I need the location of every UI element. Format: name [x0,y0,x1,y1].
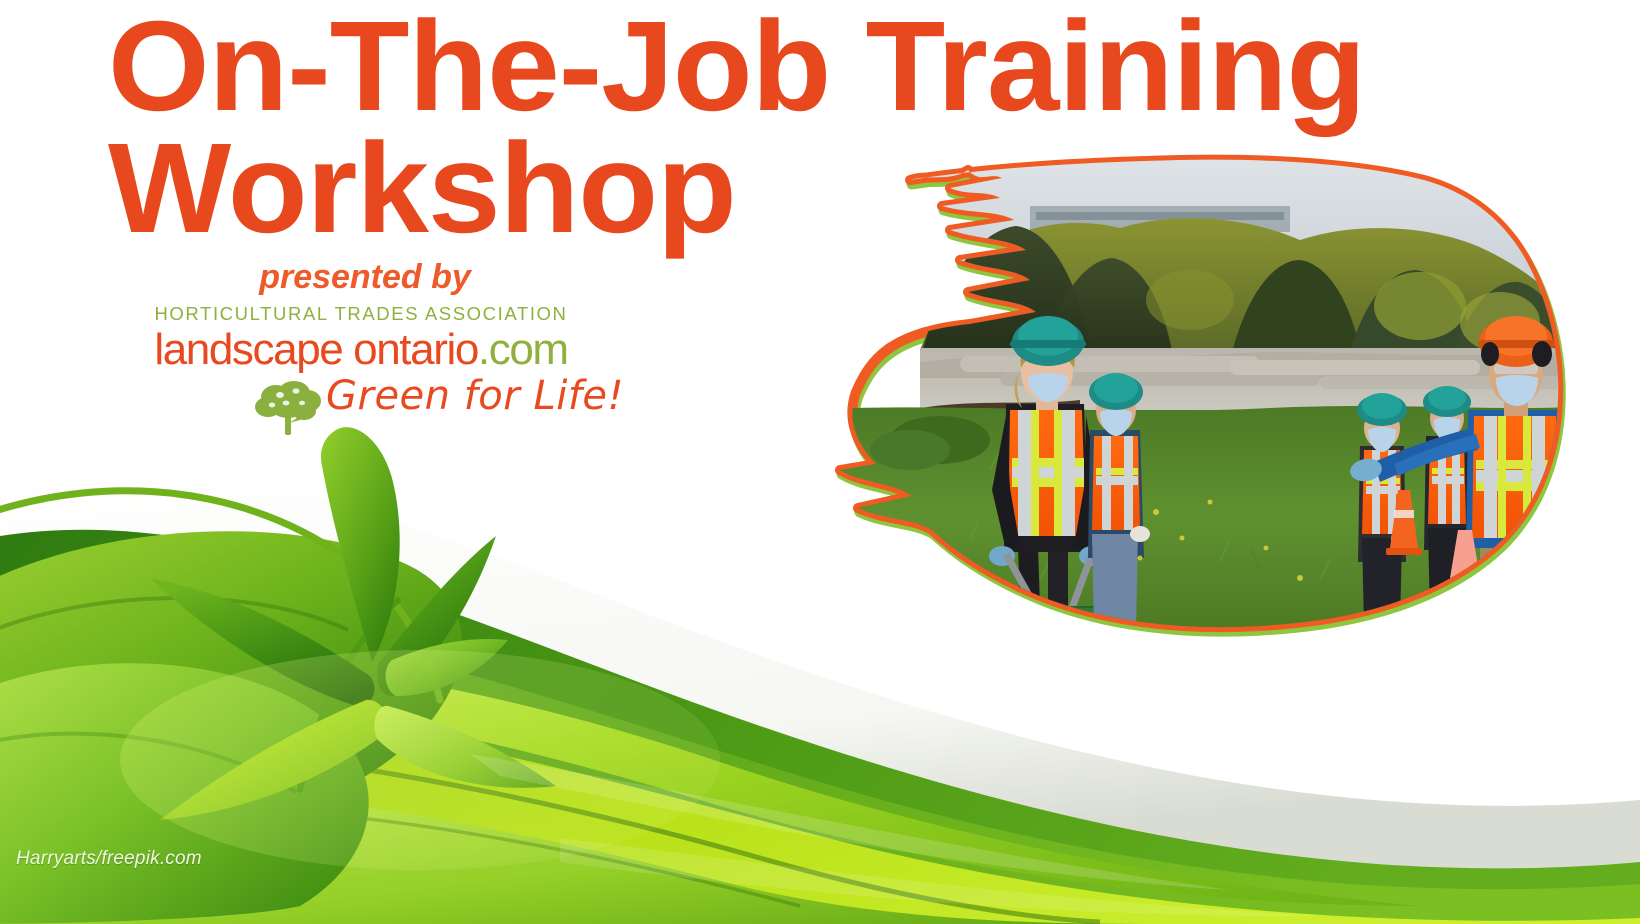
landscape-ontario-logo[interactable]: HORTICULTURAL TRADES ASSOCIATION landsca… [146,305,576,437]
logo-wordmark-landscape: landscape [154,325,342,374]
title-line-1: On-The-Job Training [108,8,1363,126]
logo-slogan-row: Green for Life! [146,375,576,437]
tree-icon [252,379,328,437]
presented-by-label: presented by [150,258,580,297]
logo-wordmark: landscape ontario.com [146,327,576,373]
logo-wordmark-ontario: ontario [342,325,478,374]
leaf-glow [120,650,720,870]
logo-tagline: HORTICULTURAL TRADES ASSOCIATION [146,305,576,324]
logo-slogan: Green for Life! [326,373,624,419]
poster-canvas: On-The-Job Training Workshop presented b… [0,0,1640,924]
logo-wordmark-dotcom: .com [478,325,568,374]
workshop-photo [800,110,1590,640]
image-credit: Harryarts/freepik.com [16,848,202,870]
